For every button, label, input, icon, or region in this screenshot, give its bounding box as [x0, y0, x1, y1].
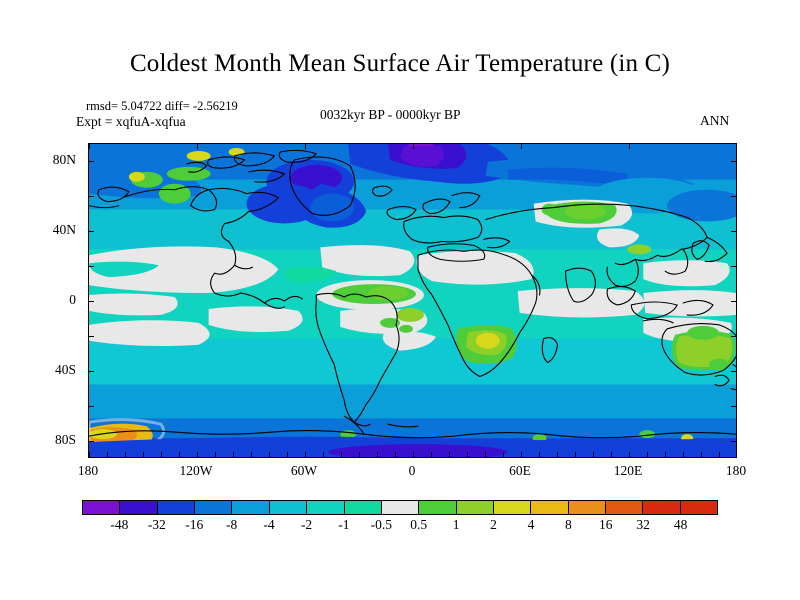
- colorbar-cell: [531, 501, 568, 514]
- map-plot-area: [88, 143, 737, 458]
- colorbar-cell: [494, 501, 531, 514]
- y-tick: [89, 266, 94, 267]
- x-tick: [719, 452, 720, 457]
- x-tick: [701, 452, 702, 457]
- x-tick-top: [197, 144, 198, 149]
- y-tick: [89, 336, 94, 337]
- colorbar-cell: [232, 501, 269, 514]
- colorbar-cell: [606, 501, 643, 514]
- x-tick-top: [736, 144, 737, 149]
- colorbar-tick: 8: [565, 517, 572, 533]
- y-tick-right: [731, 441, 736, 442]
- y-tick: [89, 406, 94, 407]
- y-tick: [89, 161, 94, 162]
- x-tick: [629, 452, 630, 457]
- y-tick-right: [731, 266, 736, 267]
- x-tick: [665, 452, 666, 457]
- colorbar-tick: 4: [528, 517, 535, 533]
- x-tick-top: [89, 144, 90, 149]
- y-tick-right: [731, 196, 736, 197]
- experiment-label: Expt = xqfuA-xqfua: [76, 114, 186, 130]
- x-tick: [125, 452, 126, 457]
- x-axis-label: 120E: [614, 463, 643, 479]
- colorbar-tick: 0.5: [410, 517, 427, 533]
- y-axis-label: 0: [30, 292, 76, 308]
- x-tick: [557, 452, 558, 457]
- x-tick: [269, 452, 270, 457]
- x-tick-top: [521, 144, 522, 149]
- x-tick: [593, 452, 594, 457]
- colorbar-tick: 2: [490, 517, 497, 533]
- y-tick-right: [731, 231, 736, 232]
- x-axis-label: 180: [78, 463, 98, 479]
- y-axis-label: 80N: [30, 152, 76, 168]
- x-axis-label: 60W: [291, 463, 317, 479]
- colorbar-tick: -4: [263, 517, 274, 533]
- rmsd-stat: rmsd= 5.04722 diff= -2.56219: [86, 99, 238, 114]
- colorbar-tick: -16: [185, 517, 203, 533]
- colorbar-cell: [345, 501, 382, 514]
- y-tick: [89, 371, 94, 372]
- x-tick: [683, 452, 684, 457]
- x-tick: [611, 452, 612, 457]
- season-label: ANN: [700, 113, 729, 129]
- colorbar-cell: [382, 501, 419, 514]
- colorbar-cell: [569, 501, 606, 514]
- x-tick: [359, 452, 360, 457]
- y-tick-right: [731, 406, 736, 407]
- x-tick: [161, 452, 162, 457]
- colorbar-tick: -8: [226, 517, 237, 533]
- y-tick-right: [731, 336, 736, 337]
- x-tick: [197, 452, 198, 457]
- colorbar-cell: [457, 501, 494, 514]
- colorbar-tick: -48: [110, 517, 128, 533]
- y-tick-right: [731, 301, 736, 302]
- x-tick: [287, 452, 288, 457]
- colorbar-cell: [643, 501, 680, 514]
- x-tick: [215, 452, 216, 457]
- x-axis-label: 0: [409, 463, 416, 479]
- x-tick: [503, 452, 504, 457]
- x-axis-label: 60E: [509, 463, 531, 479]
- x-tick: [521, 452, 522, 457]
- x-axis-label: 120W: [180, 463, 213, 479]
- x-tick: [89, 452, 90, 457]
- x-tick: [251, 452, 252, 457]
- y-tick: [89, 196, 94, 197]
- x-tick: [539, 452, 540, 457]
- x-tick: [143, 452, 144, 457]
- colorbar-tick: 32: [636, 517, 650, 533]
- colorbar-cell: [195, 501, 232, 514]
- colorbar-tick: -1: [338, 517, 349, 533]
- x-tick: [305, 452, 306, 457]
- y-tick: [89, 301, 94, 302]
- x-tick: [449, 452, 450, 457]
- colorbar-tick: -32: [148, 517, 166, 533]
- x-tick-top: [305, 144, 306, 149]
- colorbar-cell: [681, 501, 717, 514]
- x-tick: [431, 452, 432, 457]
- x-tick: [233, 452, 234, 457]
- colorbar: [82, 500, 718, 515]
- colorbar-cell: [419, 501, 456, 514]
- x-axis-label: 180: [726, 463, 746, 479]
- y-axis-label: 80S: [30, 432, 76, 448]
- x-tick-top: [629, 144, 630, 149]
- colorbar-tick: -2: [301, 517, 312, 533]
- x-tick: [377, 452, 378, 457]
- colorbar-cell: [270, 501, 307, 514]
- y-tick: [89, 441, 94, 442]
- x-tick: [179, 452, 180, 457]
- x-tick: [341, 452, 342, 457]
- y-tick: [89, 231, 94, 232]
- x-tick: [575, 452, 576, 457]
- x-tick: [736, 452, 737, 457]
- y-axis-label: 40S: [30, 362, 76, 378]
- colorbar-tick-labels: -48-32-16-8-4-2-1-0.50.51248163248: [82, 517, 718, 537]
- colorbar-tick: 48: [674, 517, 688, 533]
- temperature-anomaly-heatmap: [89, 144, 736, 457]
- colorbar-cell: [307, 501, 344, 514]
- y-tick-right: [731, 371, 736, 372]
- period-label: 0032kyr BP - 0000kyr BP: [320, 107, 461, 123]
- y-tick-right: [731, 161, 736, 162]
- colorbar-cell: [158, 501, 195, 514]
- x-tick: [323, 452, 324, 457]
- colorbar-tick: -0.5: [371, 517, 392, 533]
- x-tick-top: [413, 144, 414, 149]
- x-tick: [395, 452, 396, 457]
- colorbar-tick: 16: [599, 517, 613, 533]
- colorbar-cell: [120, 501, 157, 514]
- page-title: Coldest Month Mean Surface Air Temperatu…: [0, 50, 800, 78]
- x-tick: [413, 452, 414, 457]
- x-tick: [467, 452, 468, 457]
- y-axis-label: 40N: [30, 222, 76, 238]
- x-tick: [485, 452, 486, 457]
- x-tick: [647, 452, 648, 457]
- colorbar-cell: [83, 501, 120, 514]
- x-tick: [107, 452, 108, 457]
- colorbar-tick: 1: [453, 517, 460, 533]
